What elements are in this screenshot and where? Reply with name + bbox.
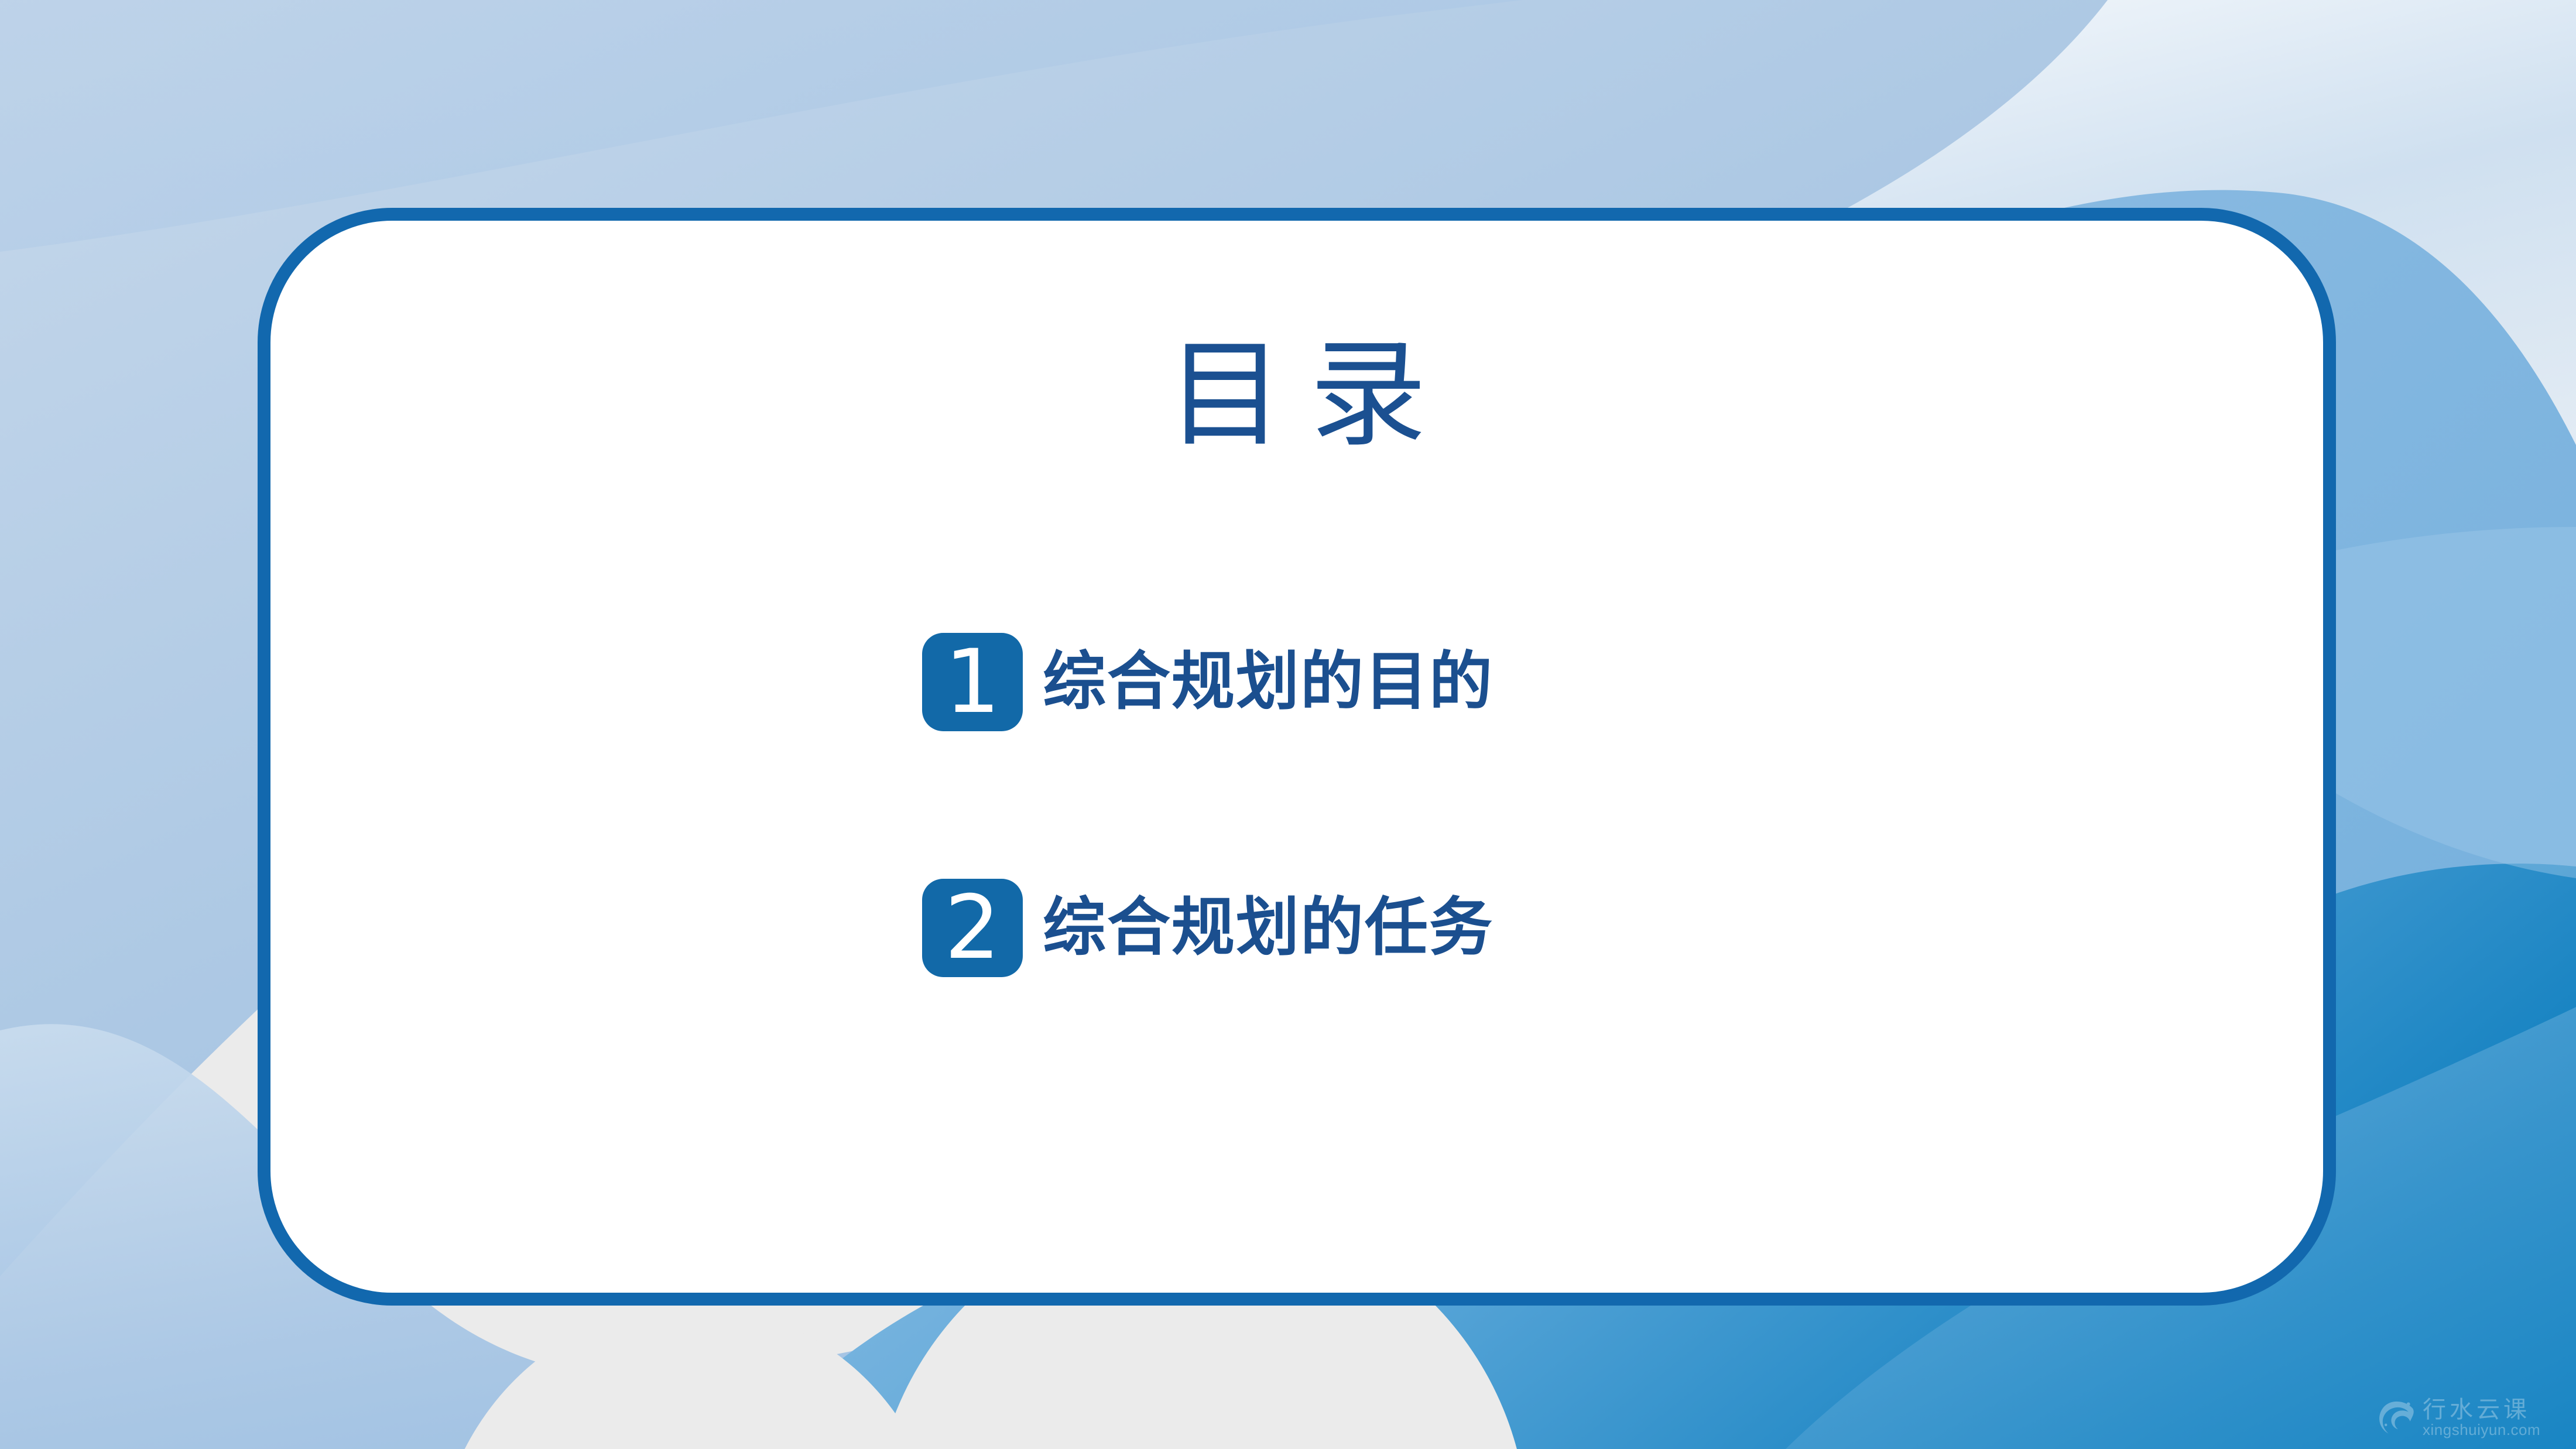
wave-swirl-icon: [2375, 1396, 2418, 1440]
toc-number-badge-1: 1: [922, 633, 1023, 731]
table-of-contents-list: 1 综合规划的目的 2 综合规划的任务: [922, 631, 2210, 979]
toc-item-label-1: 综合规划的目的: [1043, 649, 1493, 715]
watermark: 行水云课 xingshuiyun.com: [2375, 1393, 2568, 1443]
watermark-brand: 行水云课: [2423, 1397, 2540, 1422]
toc-item-1[interactable]: 1 综合规划的目的: [922, 631, 2210, 733]
watermark-url: xingshuiyun.com: [2423, 1422, 2540, 1438]
page-title: 目录: [270, 338, 2323, 455]
presentation-slide: 目录 1 综合规划的目的 2 综合规划的任务 行水云课 xingshuiyun.…: [0, 0, 2576, 1449]
content-card: 目录 1 综合规划的目的 2 综合规划的任务: [258, 208, 2336, 1306]
toc-item-2[interactable]: 2 综合规划的任务: [922, 876, 2210, 979]
toc-item-label-2: 综合规划的任务: [1043, 895, 1493, 961]
toc-number-badge-2: 2: [922, 879, 1023, 977]
